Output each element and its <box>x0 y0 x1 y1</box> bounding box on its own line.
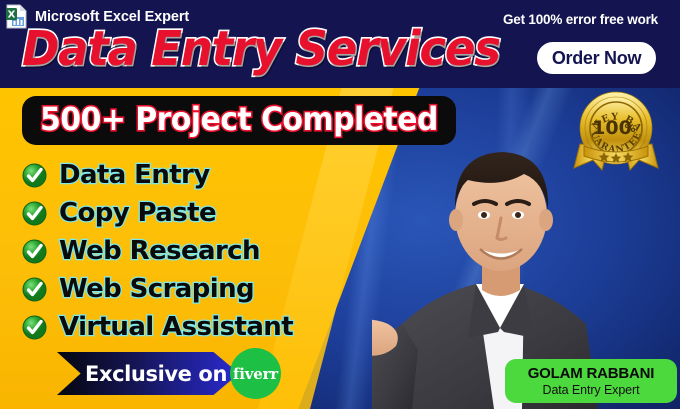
seller-nameplate: GOLAM RABBANI Data Entry Expert <box>505 359 677 403</box>
services-list: Data Entry Copy Paste Web Research Web S… <box>22 156 293 346</box>
tagline-text: Get 100% error free work <box>503 12 658 27</box>
projects-completed-label: 500+ Project Completed <box>40 101 438 139</box>
service-label: Web Scraping <box>59 274 254 304</box>
money-back-guarantee-seal-icon: MONEY BACK 100 % GUARANTEED <box>560 88 672 176</box>
exclusive-arrow-shape: Exclusive on <box>57 352 239 395</box>
exclusive-ribbon: Exclusive on fiverr <box>57 352 239 395</box>
service-label: Web Research <box>59 236 260 266</box>
green-check-badge-icon <box>22 239 47 264</box>
green-check-badge-icon <box>22 201 47 226</box>
svg-text:X: X <box>8 10 16 21</box>
projects-completed-badge: 500+ Project Completed <box>22 96 456 145</box>
list-item: Copy Paste <box>22 194 293 232</box>
list-item: Data Entry <box>22 156 293 194</box>
page-title: Data Entry Services <box>22 20 500 76</box>
green-check-badge-icon <box>22 277 47 302</box>
list-item: Web Research <box>22 232 293 270</box>
fiverr-logo-label: fiverr <box>233 365 278 383</box>
gig-thumbnail-banner: X Microsoft Excel Expert Data Entry Serv… <box>0 0 680 409</box>
green-check-badge-icon <box>22 163 47 188</box>
seller-role: Data Entry Expert <box>543 383 640 397</box>
service-label: Virtual Assistant <box>59 312 293 342</box>
service-label: Data Entry <box>59 160 210 190</box>
seller-name: GOLAM RABBANI <box>528 365 655 382</box>
order-now-button[interactable]: Order Now <box>537 42 656 74</box>
green-check-badge-icon <box>22 315 47 340</box>
fiverr-logo-badge[interactable]: fiverr <box>230 348 281 399</box>
service-label: Copy Paste <box>59 198 216 228</box>
list-item: Web Scraping <box>22 270 293 308</box>
list-item: Virtual Assistant <box>22 308 293 346</box>
exclusive-label: Exclusive on <box>85 362 227 386</box>
